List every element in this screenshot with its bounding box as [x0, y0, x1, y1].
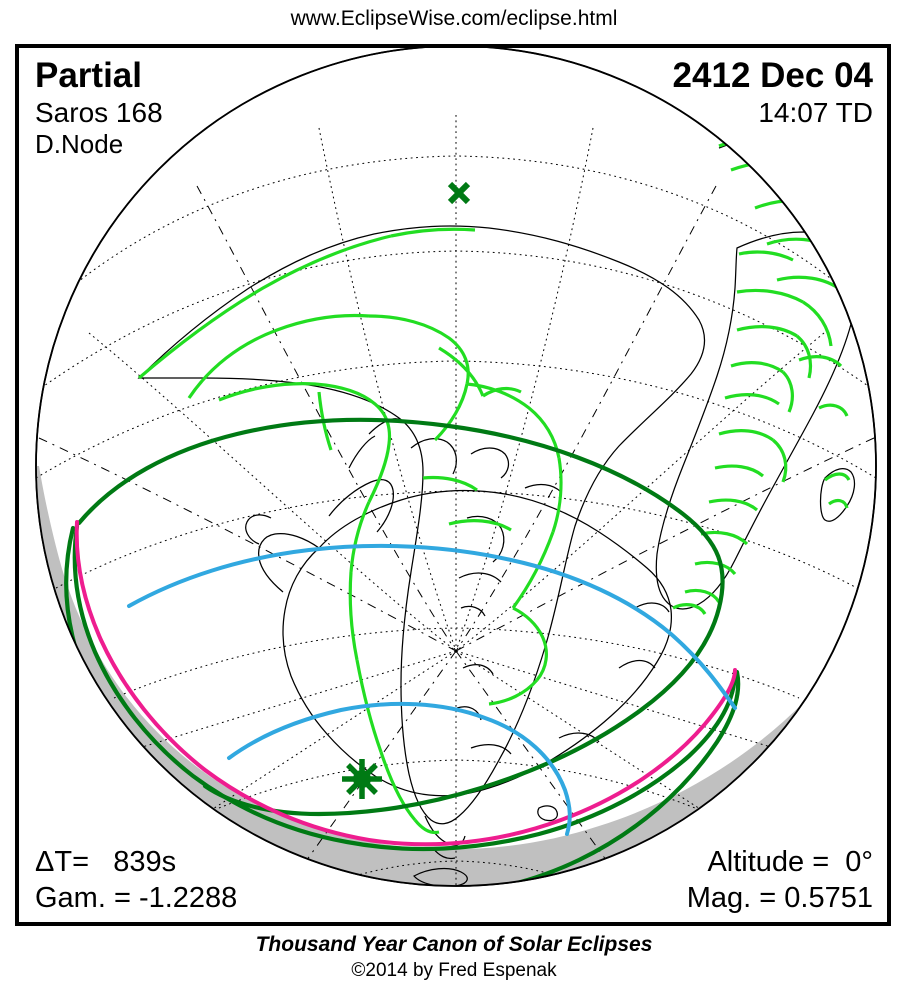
- orthographic-globe-map: [19, 48, 887, 922]
- eclipse-map-frame: Partial Saros 168 D.Node 2412 Dec 04 14:…: [15, 44, 891, 926]
- footer-credit: ©2014 by Fred Espenak: [0, 958, 908, 984]
- gamma-value: Gam. = -1.2288: [35, 880, 237, 916]
- delta-t-value: ΔT= 839s: [35, 844, 237, 880]
- magnitude-value: Mag. = 0.5751: [687, 880, 873, 916]
- altitude-value: Altitude = 0°: [687, 844, 873, 880]
- eclipse-page: www.EclipseWise.com/eclipse.html: [0, 0, 908, 1004]
- saros-label: Saros 168: [35, 96, 163, 129]
- eclipse-time-label: 14:07 TD: [673, 96, 873, 129]
- top-right-labels: 2412 Dec 04 14:07 TD: [673, 56, 873, 129]
- eclipse-type-label: Partial: [35, 56, 163, 96]
- url-bar: www.EclipseWise.com/eclipse.html: [0, 2, 908, 36]
- globe-container: [19, 48, 887, 922]
- bottom-left-stats: ΔT= 839s Gam. = -1.2288: [35, 844, 237, 916]
- url-text: www.EclipseWise.com/eclipse.html: [291, 7, 618, 31]
- greatest-eclipse-marker: [342, 759, 382, 799]
- footer: Thousand Year Canon of Solar Eclipses ©2…: [0, 932, 908, 984]
- node-label: D.Node: [35, 129, 163, 160]
- top-left-labels: Partial Saros 168 D.Node: [35, 56, 163, 160]
- bottom-right-stats: Altitude = 0° Mag. = 0.5751: [687, 844, 873, 916]
- eclipse-date-label: 2412 Dec 04: [673, 56, 873, 96]
- footer-title: Thousand Year Canon of Solar Eclipses: [0, 932, 908, 958]
